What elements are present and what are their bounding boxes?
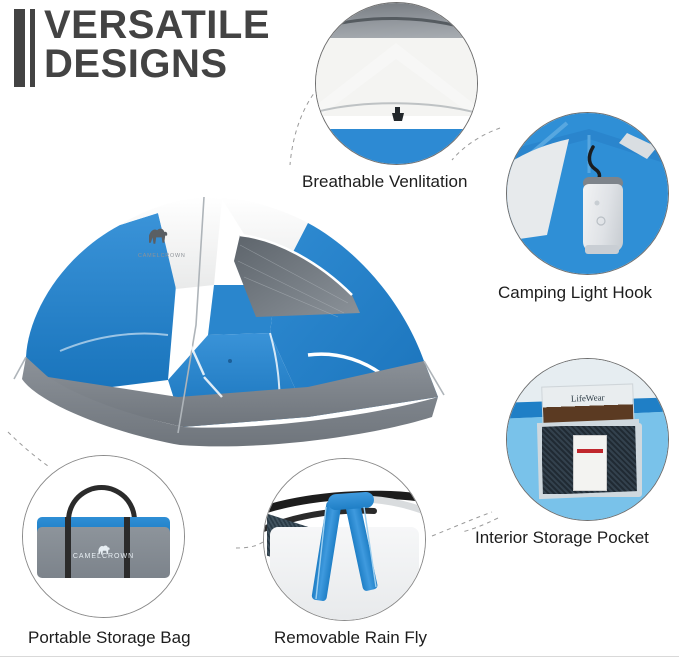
title-accent-bars: [14, 6, 35, 87]
tent-illustration: CAMELCROWN: [8, 165, 478, 455]
feature-label-breathable-ventilation: Breathable Venlitation: [302, 172, 467, 192]
title-line-1: VERSATILE: [44, 3, 270, 47]
infographic-canvas: VERSATILE DESIGNS: [0, 0, 679, 665]
title-text: VERSATILE DESIGNS: [44, 6, 270, 84]
svg-text:CAMELCROWN: CAMELCROWN: [138, 253, 186, 259]
feature-label-removable-rain-fly: Removable Rain Fly: [274, 628, 427, 648]
bottom-divider: [0, 656, 679, 657]
feature-circle-camping-light-hook: [506, 112, 669, 275]
light-hook-inset-art: [507, 113, 668, 274]
feature-label-portable-storage-bag: Portable Storage Bag: [28, 628, 191, 648]
bag-inset-art: CAMELCROWN: [23, 456, 184, 617]
ventilation-inset-art: [316, 3, 477, 164]
connector-fly-to-bag: [236, 540, 266, 548]
title-bar-thin: [30, 9, 35, 87]
feature-circle-interior-storage-pocket: LifeWear: [506, 358, 669, 521]
feature-label-camping-light-hook: Camping Light Hook: [498, 283, 652, 303]
feature-label-interior-storage-pocket: Interior Storage Pocket: [475, 528, 649, 548]
feature-circle-portable-storage-bag: CAMELCROWN: [22, 455, 185, 618]
bag-camel-icon: [23, 456, 185, 618]
main-tent-image: CAMELCROWN: [8, 165, 478, 455]
title-line-2: DESIGNS: [44, 45, 270, 84]
rain-fly-inset-art: [264, 459, 425, 620]
fly-stitch-icon: [264, 459, 426, 621]
vent-toggle-icon: [316, 3, 478, 165]
feature-circle-breathable-ventilation: [315, 2, 478, 165]
feature-circle-removable-rain-fly: [263, 458, 426, 621]
pocket-trim-icon: [507, 359, 669, 521]
page-title: VERSATILE DESIGNS: [14, 6, 270, 87]
pocket-inset-art: LifeWear: [507, 359, 668, 520]
title-bar-thick: [14, 9, 25, 87]
connector-ventilation-to-tent: [290, 88, 318, 165]
bag-brand-text: CAMELCROWN: [23, 553, 184, 560]
lantern-button-icon: [507, 113, 669, 275]
